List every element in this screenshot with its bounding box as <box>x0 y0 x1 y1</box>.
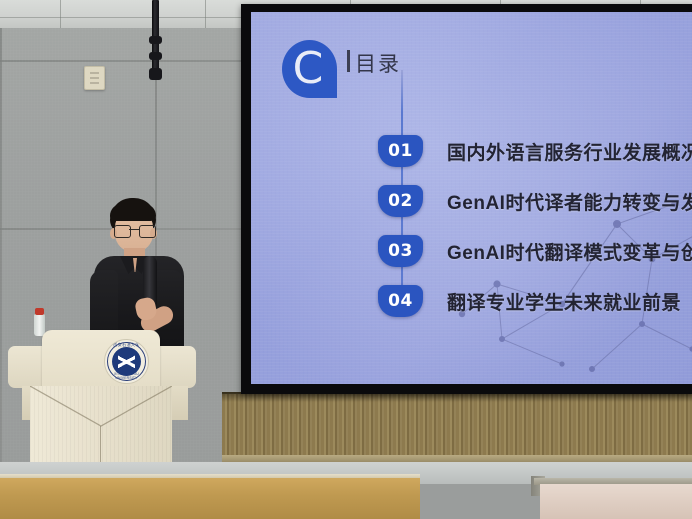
slide-item-number: 03 <box>388 241 413 261</box>
slide-logo-letter: C <box>282 40 337 98</box>
slide-item-badge: 03 <box>378 235 423 267</box>
emblem-text-top: 西安石油大学 <box>105 342 148 348</box>
slide-item-04: 04 翻译专业学生未来就业前景 <box>378 280 681 322</box>
slide-item-badge: 02 <box>378 185 423 217</box>
glasses-icon <box>114 225 154 236</box>
slide-item-text: GenAI时代译者能力转变与发展 <box>447 188 692 215</box>
emblem-text-bottom: XI'AN SHIYOU UNIVERSITY <box>105 372 148 380</box>
podium-bevel <box>30 386 172 430</box>
presenter <box>88 198 193 350</box>
slide-item-01: 01 国内外语言服务行业发展概况 <box>378 130 692 172</box>
slide-item-number: 04 <box>388 291 413 311</box>
slide-item-number: 01 <box>388 141 413 161</box>
slide-item-badge: 01 <box>378 135 423 167</box>
desk-right <box>540 484 692 519</box>
slide-logo: C <box>282 40 337 98</box>
slide-item-text: 国内外语言服务行业发展概况 <box>447 138 692 165</box>
desk-front <box>0 478 420 519</box>
slide-item-text: GenAI时代翻译模式变革与创新 <box>447 238 692 265</box>
slide-item-03: 03 GenAI时代翻译模式变革与创新 <box>378 230 692 272</box>
mount-knob-middle <box>149 52 162 60</box>
slide-item-text: 翻译专业学生未来就业前景 <box>447 288 681 315</box>
wall-outlet <box>84 66 105 90</box>
slide-item-number: 02 <box>388 191 413 211</box>
slide-item-badge: 04 <box>378 285 423 317</box>
mount-knob-lower <box>149 68 162 80</box>
slide-item-02: 02 GenAI时代译者能力转变与发展 <box>378 180 692 222</box>
projection-screen: C 目录 01 国内外语言服务行业发展概况 02 GenAI时代译者能力转变与发… <box>251 12 692 384</box>
university-emblem: 西安石油大学 XI'AN SHIYOU UNIVERSITY <box>104 339 149 384</box>
slide-title-divider <box>347 50 350 72</box>
slide-title: 目录 <box>355 48 401 78</box>
lecture-hall-photo: C 目录 01 国内外语言服务行业发展概况 02 GenAI时代译者能力转变与发… <box>0 0 692 519</box>
mount-knob-upper <box>149 36 162 44</box>
podium-top-panel: 西安石油大学 XI'AN SHIYOU UNIVERSITY <box>42 330 160 390</box>
